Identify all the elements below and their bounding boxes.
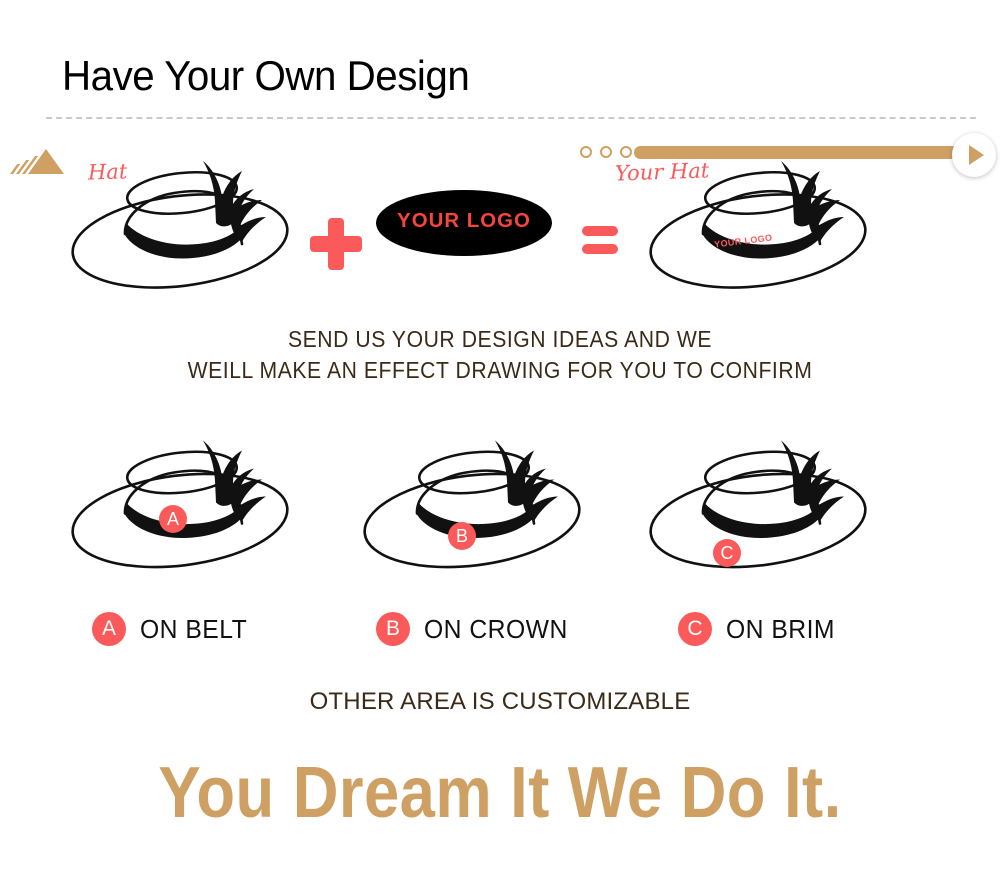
legend-badge-b: B: [376, 612, 410, 646]
hat-marker-a: A: [159, 505, 187, 533]
legend-item-brim: C ON BRIM: [678, 612, 841, 646]
logo-placeholder-text: YOUR LOGO: [374, 210, 554, 233]
instruction-text: SEND US YOUR DESIGN IDEAS AND WE WEILL M…: [0, 324, 1000, 386]
logo-placeholder-oval: YOUR LOGO: [376, 190, 552, 256]
instruction-line-2: WEILL MAKE AN EFFECT DRAWING FOR YOU TO …: [40, 355, 960, 386]
branded-hat-illustration: YOUR LOGO Your Hat: [640, 138, 890, 303]
header-divider: [46, 117, 976, 119]
placement-hat-b: B: [354, 415, 604, 585]
legend-badge-a: A: [92, 612, 126, 646]
slogan-text: You Dream It We Do It.: [60, 752, 940, 834]
legend-label-belt: ON BELT: [140, 614, 247, 645]
equals-operator-icon: [582, 226, 618, 256]
placement-hat-c: C: [640, 415, 890, 585]
hat-marker-c: C: [713, 539, 741, 567]
legend-item-crown: B ON CROWN: [376, 612, 575, 646]
hat-source-label: Hat: [88, 159, 128, 184]
legend-label-crown: ON CROWN: [424, 614, 568, 645]
placement-hat-a: A: [62, 415, 312, 585]
page-title: Have Your Own Design: [62, 52, 469, 100]
hat-result-label: Your Hat: [615, 158, 710, 185]
legend-item-belt: A ON BELT: [92, 612, 253, 646]
placement-legend: A ON BELT B ON CROWN C ON BRIM: [0, 612, 1000, 654]
plus-operator-icon: [310, 218, 362, 270]
plain-hat-illustration: Hat: [62, 138, 312, 303]
customization-note: OTHER AREA IS CUSTOMIZABLE: [0, 688, 1000, 716]
placement-options: A B: [0, 415, 1000, 595]
legend-badge-c: C: [678, 612, 712, 646]
instruction-line-1: SEND US YOUR DESIGN IDEAS AND WE: [40, 324, 960, 355]
hat-marker-b: B: [448, 522, 476, 550]
legend-label-brim: ON BRIM: [726, 614, 835, 645]
page-header: Have Your Own Design: [0, 52, 1000, 130]
